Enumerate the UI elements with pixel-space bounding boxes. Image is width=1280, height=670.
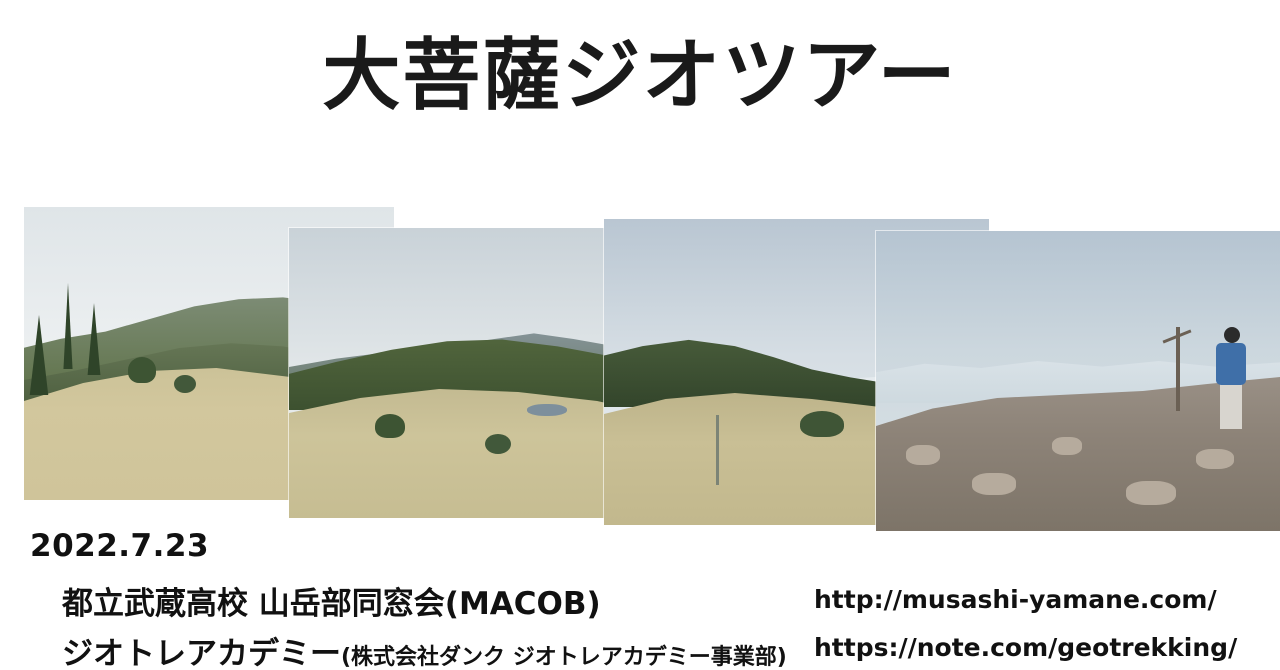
photo-4-rock-b — [972, 473, 1016, 495]
slide-canvas: 大菩薩ジオツアー — [0, 0, 1280, 670]
organizer-line-1: 都立武蔵高校 山岳部同窓会(MACOB) — [62, 578, 601, 623]
link-musashi-yamane[interactable]: http://musashi-yamane.com/ — [814, 585, 1217, 614]
photo-4-hiker-legs — [1220, 381, 1242, 429]
event-date: 2022.7.23 — [30, 528, 209, 564]
photo-4-hiker-head — [1224, 327, 1240, 343]
photo-4-hiker-jacket — [1216, 343, 1246, 385]
photo-4-rock-a — [906, 445, 940, 465]
page-title: 大菩薩ジオツアー — [0, 34, 1280, 120]
organizer-line-2-main: ジオトレアカデミー — [62, 636, 341, 670]
link-note-geotrekking[interactable]: https://note.com/geotrekking/ — [814, 633, 1237, 662]
photo-2-shrub-a — [375, 414, 405, 438]
photo-4-rock-e — [1196, 449, 1234, 469]
photo-2-lake — [527, 404, 567, 416]
photo-strip — [0, 200, 1280, 540]
photo-3-pole — [716, 415, 719, 485]
photo-4-rock-c — [1052, 437, 1082, 455]
photo-4-rock-d — [1126, 481, 1176, 505]
photo-1-shrub-a — [128, 357, 156, 383]
photo-3-shrub — [800, 411, 844, 437]
photo-2-shrub-b — [485, 434, 511, 454]
photo-1-shrub-b — [174, 375, 196, 393]
photo-hiker-on-scree — [876, 231, 1280, 531]
organizer-line-2-sub: (株式会社ダンク ジオトレアカデミー事業部) — [341, 645, 787, 670]
organizer-line-2: ジオトレアカデミー(株式会社ダンク ジオトレアカデミー事業部) — [62, 628, 787, 670]
photo-4-dead-tree — [1176, 327, 1180, 411]
